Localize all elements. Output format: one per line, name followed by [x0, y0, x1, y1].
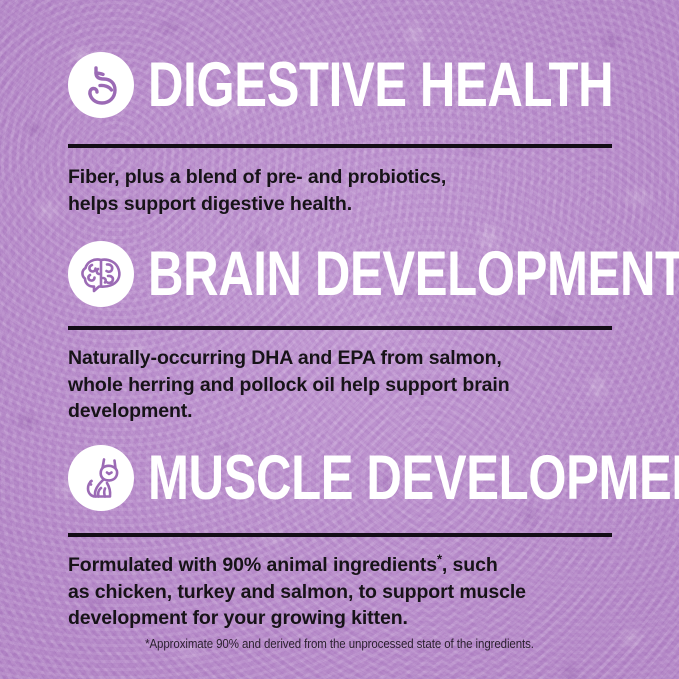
cat-icon [68, 445, 134, 511]
benefit-headline-muscle: MUSCLE DEVELOPMENT [148, 447, 679, 510]
section-divider-digestive [68, 144, 612, 148]
benefit-headline-digestive: DIGESTIVE HEALTH [148, 54, 613, 117]
kitten-food-benefits-infographic: DIGESTIVE HEALTH Fiber, plus a blend of … [0, 0, 679, 679]
benefit-header-brain: BRAIN DEVELOPMENT [0, 241, 679, 307]
stomach-icon [68, 52, 134, 118]
benefit-body-digestive: Fiber, plus a blend of pre- and probioti… [68, 164, 628, 217]
benefit-header-digestive: DIGESTIVE HEALTH [0, 52, 679, 118]
benefit-body-muscle-part1: Formulated with 90% animal ingredients [68, 554, 437, 576]
benefit-section-muscle: MUSCLE DEVELOPMENT Formulated with 90% a… [0, 445, 679, 511]
benefit-body-brain: Naturally-occurring DHA and EPA from sal… [68, 345, 628, 425]
benefit-headline-brain: BRAIN DEVELOPMENT [148, 243, 679, 306]
section-divider-muscle [68, 533, 612, 537]
infographic-content: DIGESTIVE HEALTH Fiber, plus a blend of … [0, 0, 679, 679]
benefit-section-digestive: DIGESTIVE HEALTH Fiber, plus a blend of … [0, 52, 679, 118]
footnote-text: *Approximate 90% and derived from the un… [27, 637, 652, 651]
benefit-body-muscle: Formulated with 90% animal ingredients*,… [68, 552, 628, 632]
section-divider-brain [68, 326, 612, 330]
benefit-header-muscle: MUSCLE DEVELOPMENT [0, 445, 679, 511]
benefit-section-brain: BRAIN DEVELOPMENT Naturally-occurring DH… [0, 241, 679, 307]
brain-icon [68, 241, 134, 307]
